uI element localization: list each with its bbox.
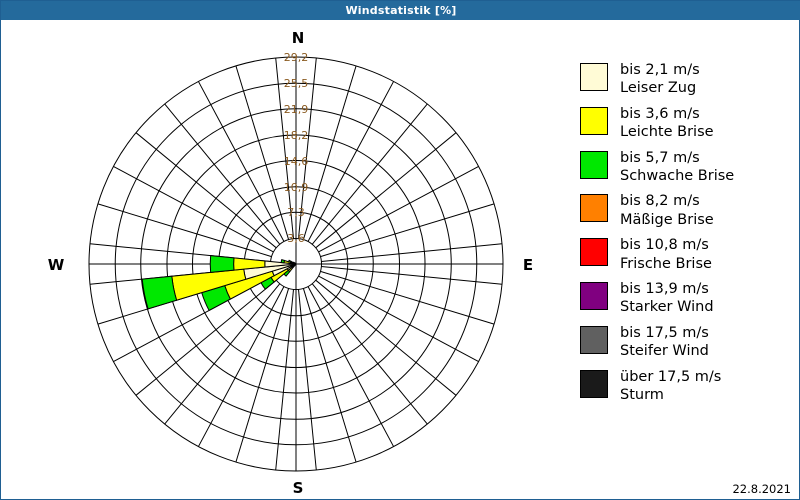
legend-color-swatch xyxy=(580,194,608,222)
legend-item[interactable]: bis 17,5 m/sSteifer Wind xyxy=(580,324,795,361)
radial-tick-label: 29,2 xyxy=(276,51,316,64)
window-title: Windstatistik [%] xyxy=(345,4,456,17)
radial-tick-label: 10,9 xyxy=(276,181,316,194)
legend-color-swatch xyxy=(580,238,608,266)
legend-beaufort-name: Frische Brise xyxy=(620,255,712,273)
legend-beaufort-name: Schwache Brise xyxy=(620,167,734,185)
legend-label: bis 5,7 m/sSchwache Brise xyxy=(620,149,734,186)
date-stamp: 22.8.2021 xyxy=(732,482,791,496)
radial-tick-label: 18,2 xyxy=(276,129,316,142)
radial-tick-label: 25,5 xyxy=(276,77,316,90)
legend-label: über 17,5 m/sSturm xyxy=(620,368,721,405)
legend-beaufort-name: Starker Wind xyxy=(620,298,714,316)
legend-item[interactable]: bis 3,6 m/sLeichte Brise xyxy=(580,105,795,142)
grid-spoke xyxy=(276,289,294,470)
legend-label: bis 8,2 m/sMäßige Brise xyxy=(620,192,714,229)
legend-label: bis 13,9 m/sStarker Wind xyxy=(620,280,714,317)
legend-color-swatch xyxy=(580,107,608,135)
wind-rose-segment[interactable] xyxy=(281,260,284,263)
wind-rose-segment[interactable] xyxy=(293,262,294,263)
compass-label-east: E xyxy=(510,256,546,274)
wind-rose-segment[interactable] xyxy=(210,256,234,273)
wind-rose-plot xyxy=(2,21,562,499)
legend-item[interactable]: bis 8,2 m/sMäßige Brise xyxy=(580,192,795,229)
legend-color-swatch xyxy=(580,370,608,398)
grid-spoke xyxy=(321,244,502,262)
legend-speed-range: über 17,5 m/s xyxy=(620,369,721,385)
legend: bis 2,1 m/sLeiser Zugbis 3,6 m/sLeichte … xyxy=(580,61,795,412)
wind-rose-segment[interactable] xyxy=(142,276,176,309)
grid-spoke xyxy=(320,271,494,324)
legend-speed-range: bis 8,2 m/s xyxy=(620,193,700,209)
radial-tick-label: 3,6 xyxy=(276,232,316,245)
grid-spoke xyxy=(236,288,289,462)
legend-item[interactable]: bis 2,1 m/sLeiser Zug xyxy=(580,61,795,98)
chart-area: N S W E 3,67,310,914,618,221,925,529,2 b… xyxy=(2,21,798,499)
legend-label: bis 3,6 m/sLeichte Brise xyxy=(620,105,714,142)
grid-spoke xyxy=(320,204,494,257)
grid-spoke xyxy=(321,267,502,285)
window-titlebar: Windstatistik [%] xyxy=(1,1,800,20)
compass-label-south: S xyxy=(280,479,316,497)
legend-speed-range: bis 10,8 m/s xyxy=(620,237,709,253)
legend-item[interactable]: über 17,5 m/sSturm xyxy=(580,368,795,405)
legend-color-swatch xyxy=(580,63,608,91)
wind-rose-segment[interactable] xyxy=(289,260,291,262)
legend-beaufort-name: Leichte Brise xyxy=(620,123,714,141)
legend-label: bis 17,5 m/sSteifer Wind xyxy=(620,324,709,361)
legend-speed-range: bis 5,7 m/s xyxy=(620,150,700,166)
compass-label-west: W xyxy=(38,256,74,274)
legend-item[interactable]: bis 10,8 m/sFrische Brise xyxy=(580,236,795,273)
legend-beaufort-name: Leiser Zug xyxy=(620,79,700,97)
radial-tick-label: 21,9 xyxy=(276,103,316,116)
grid-spoke xyxy=(303,288,356,462)
legend-label: bis 2,1 m/sLeiser Zug xyxy=(620,61,700,98)
compass-label-north: N xyxy=(280,29,316,47)
grid-spoke xyxy=(98,204,272,257)
legend-beaufort-name: Mäßige Brise xyxy=(620,211,714,229)
legend-color-swatch xyxy=(580,326,608,354)
grid-spoke xyxy=(299,289,317,470)
legend-speed-range: bis 2,1 m/s xyxy=(620,62,700,78)
legend-color-swatch xyxy=(580,282,608,310)
legend-item[interactable]: bis 13,9 m/sStarker Wind xyxy=(580,280,795,317)
legend-speed-range: bis 3,6 m/s xyxy=(620,106,700,122)
legend-item[interactable]: bis 5,7 m/sSchwache Brise xyxy=(580,149,795,186)
legend-beaufort-name: Steifer Wind xyxy=(620,342,709,360)
legend-label: bis 10,8 m/sFrische Brise xyxy=(620,236,712,273)
legend-speed-range: bis 13,9 m/s xyxy=(620,281,709,297)
radial-tick-label: 14,6 xyxy=(276,155,316,168)
legend-color-swatch xyxy=(580,151,608,179)
legend-speed-range: bis 17,5 m/s xyxy=(620,325,709,341)
radial-tick-label: 7,3 xyxy=(276,206,316,219)
legend-beaufort-name: Sturm xyxy=(620,386,721,404)
windstatistik-window: Windstatistik [%] N S W E 3,67,310,914,6… xyxy=(0,0,800,500)
